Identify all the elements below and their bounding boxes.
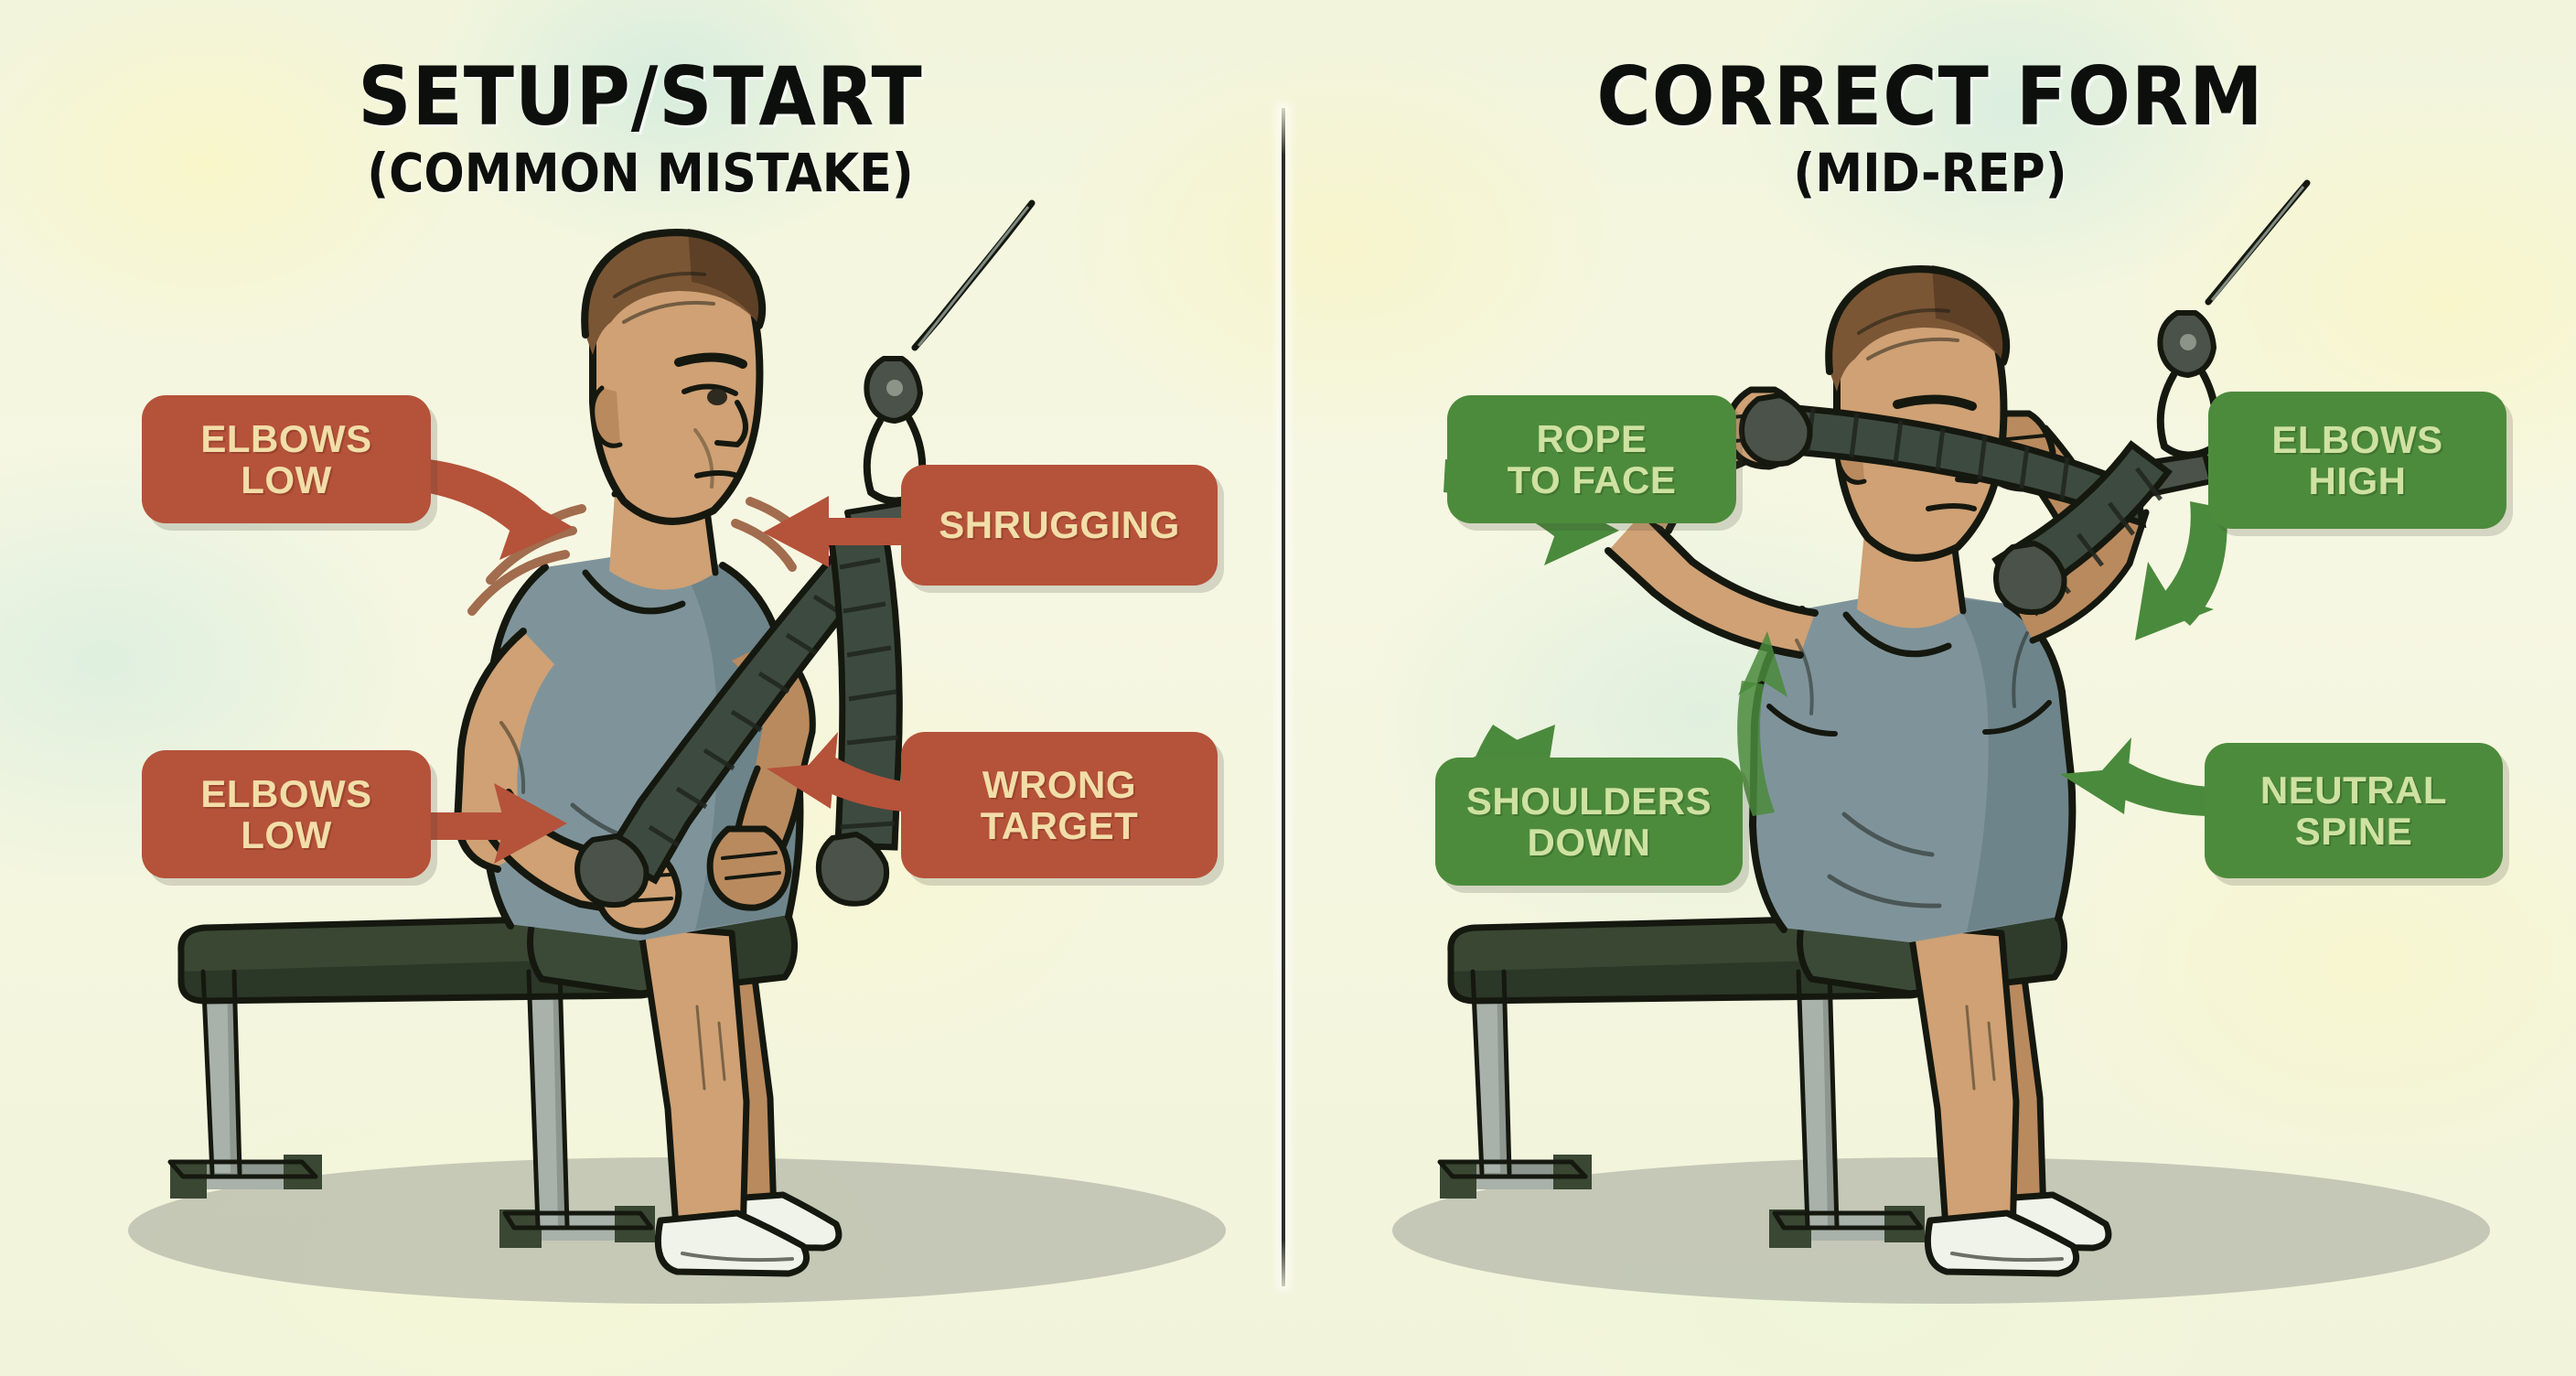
infographic-canvas: SETUP/START (COMMON MISTAKE) [0,0,2576,1376]
callout-label: SHOULDERS DOWN [1466,780,1712,864]
callout-label: SHRUGGING [939,504,1180,545]
callout-label: ELBOWS LOW [200,773,371,856]
callout-elbows-low-upper[interactable]: ELBOWS LOW [142,395,431,523]
callout-elbows-low-lower[interactable]: ELBOWS LOW [142,750,431,878]
callout-label: WRONG TARGET [981,764,1139,847]
callout-elbows-high[interactable]: ELBOWS HIGH [2208,392,2506,529]
arrow-elbows-low-upper [412,457,573,560]
callout-wrong-target[interactable]: WRONG TARGET [901,732,1218,878]
callout-neutral-spine[interactable]: NEUTRAL SPINE [2205,743,2503,878]
callout-shrugging[interactable]: SHRUGGING [901,465,1218,586]
callout-label: ELBOWS HIGH [2271,419,2442,502]
callout-label: NEUTRAL SPINE [2260,769,2447,853]
illustration-correct-form [1284,0,2576,1376]
callout-label: ROPE TO FACE [1508,418,1677,501]
callout-rope-to-face[interactable]: ROPE TO FACE [1447,395,1736,523]
illustration-setup-start [0,0,1281,1376]
panel-setup-start: SETUP/START (COMMON MISTAKE) [0,0,1281,1376]
athlete-figure-incorrect [457,229,839,1274]
panel-divider [1282,108,1285,1286]
arrow-elbows-high [2135,501,2227,640]
callout-label: ELBOWS LOW [200,418,371,501]
panel-correct-form: CORRECT FORM (MID-REP) [1284,0,2576,1376]
arrow-neutral-spine [2060,737,2208,816]
callout-shoulders-down[interactable]: SHOULDERS DOWN [1435,758,1743,886]
